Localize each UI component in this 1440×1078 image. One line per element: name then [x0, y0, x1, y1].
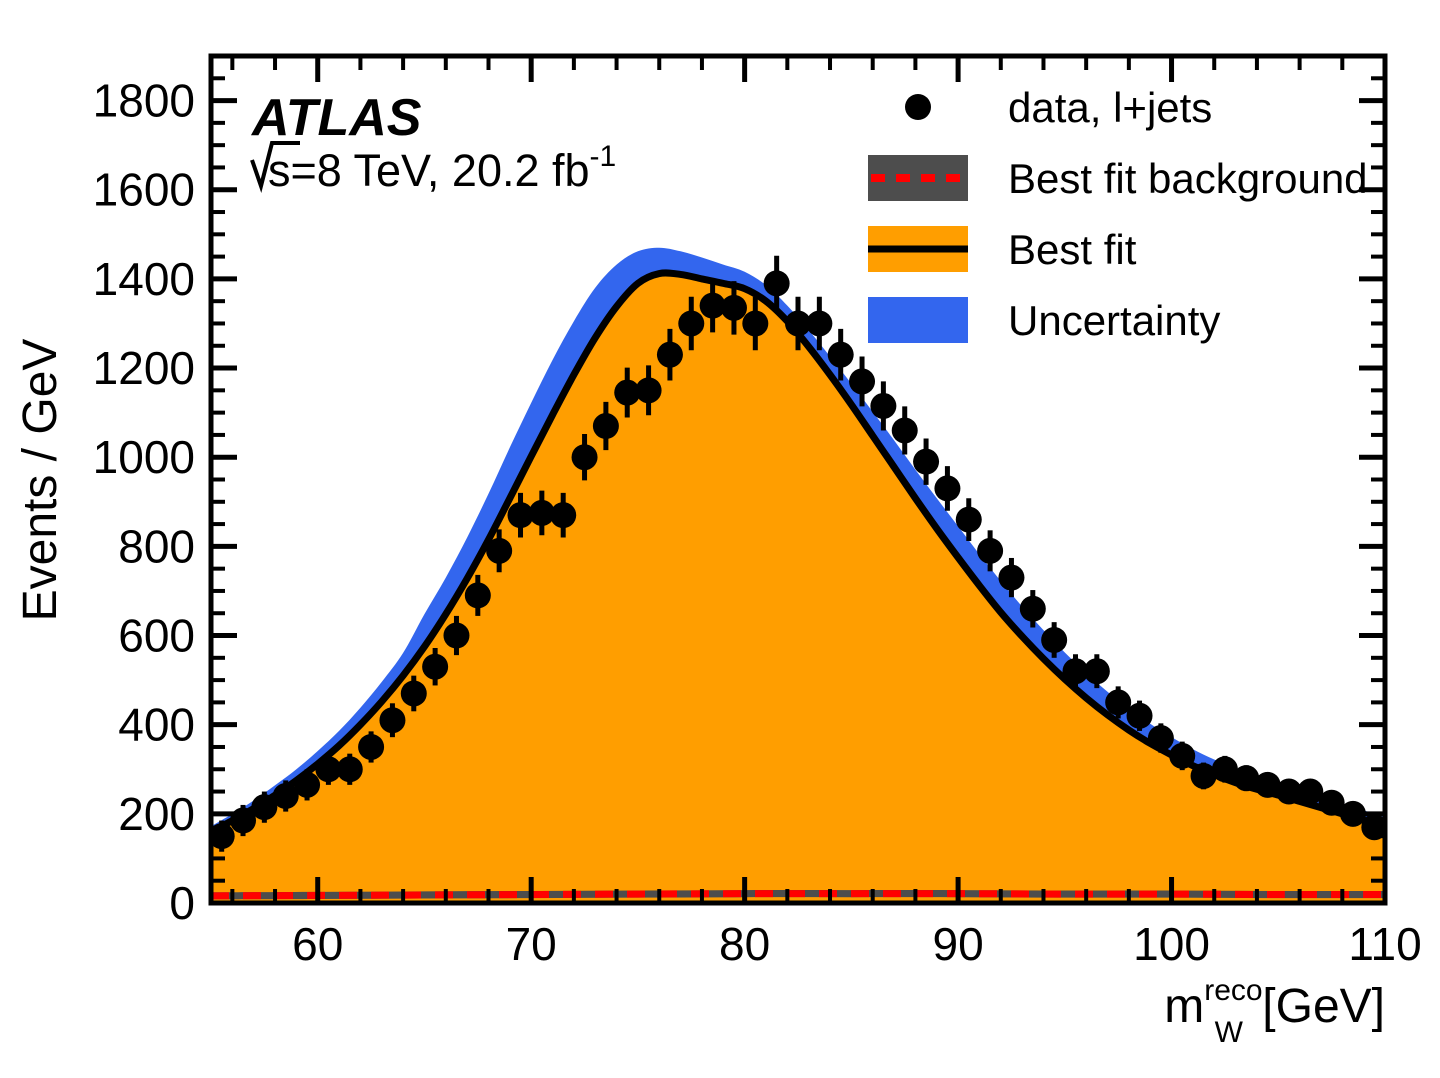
data-marker: [721, 295, 747, 321]
x-tick-label: 110: [1348, 918, 1421, 970]
x-tick-label: 70: [506, 918, 557, 970]
data-marker: [849, 368, 875, 394]
data-marker: [572, 444, 598, 470]
data-marker: [1148, 725, 1174, 751]
x-tick-label: 80: [719, 918, 770, 970]
data-marker: [678, 310, 704, 336]
y-tick-label: 600: [118, 610, 195, 662]
luminosity-exponent: -1: [590, 140, 617, 173]
data-marker: [486, 538, 512, 564]
data-marker: [593, 413, 619, 439]
atlas-mw-reco-chart: 60708090100110 0200400600800100012001400…: [0, 0, 1440, 1078]
chart-page: 60708090100110 0200400600800100012001400…: [0, 0, 1440, 1078]
data-marker: [956, 507, 982, 533]
y-axis-title-text: Events / GeV: [14, 339, 67, 622]
luminosity-rest: =8 TeV, 20.2 fb: [291, 145, 590, 196]
data-marker: [422, 654, 448, 680]
data-marker: [443, 623, 469, 649]
data-marker: [870, 393, 896, 419]
legend-label: data, l+jets: [1008, 84, 1212, 131]
data-marker: [934, 475, 960, 501]
legend-item[interactable]: Uncertainty: [868, 297, 1220, 344]
data-marker: [1041, 627, 1067, 653]
data-marker: [998, 565, 1024, 591]
luminosity-annotation: s=8 TeV, 20.2 fb-1: [252, 140, 616, 196]
data-marker: [977, 538, 1003, 564]
data-marker: [636, 377, 662, 403]
data-marker: [913, 449, 939, 475]
x-axis-title-unit: [GeV]: [1249, 980, 1385, 1033]
legend-marker-data-point: [905, 94, 931, 120]
data-marker: [550, 502, 576, 528]
y-tick-label: 1600: [93, 164, 195, 216]
legend-label: Uncertainty: [1008, 297, 1220, 344]
x-tick-label: 60: [292, 918, 343, 970]
legend-label: Best fit: [1008, 226, 1137, 273]
y-tick-label: 1800: [93, 75, 195, 127]
data-marker: [337, 756, 363, 782]
legend-label: Best fit background: [1008, 155, 1368, 202]
luminosity-s: s: [268, 145, 291, 196]
data-marker: [892, 417, 918, 443]
data-marker: [465, 582, 491, 608]
legend-swatch: [868, 297, 968, 343]
background-dashed-line: [211, 894, 1385, 896]
atlas-label-text: ATLAS: [250, 89, 422, 147]
y-tick-label: 1000: [93, 431, 195, 483]
y-tick-label: 1400: [93, 253, 195, 305]
y-tick-label: 200: [118, 788, 195, 840]
legend-item[interactable]: Best fit background: [868, 155, 1368, 202]
data-marker: [742, 310, 768, 336]
x-tick-label: 100: [1133, 918, 1210, 970]
data-marker: [1084, 658, 1110, 684]
data-marker: [1020, 596, 1046, 622]
data-marker: [358, 734, 384, 760]
x-axis-title-base: m: [1164, 980, 1204, 1033]
x-axis-title-sub: W: [1215, 1016, 1244, 1049]
x-tick-label: 90: [933, 918, 984, 970]
data-marker: [1169, 743, 1195, 769]
data-marker: [401, 680, 427, 706]
y-axis-title: Events / GeV: [14, 339, 67, 622]
y-tick-label: 800: [118, 520, 195, 572]
data-marker: [806, 310, 832, 336]
luminosity-text: s=8 TeV, 20.2 fb-1: [268, 140, 616, 196]
data-marker: [828, 342, 854, 368]
y-tick-label: 1200: [93, 342, 195, 394]
data-marker: [764, 270, 790, 296]
data-marker: [379, 707, 405, 733]
data-marker: [657, 342, 683, 368]
y-tick-label: 0: [169, 877, 195, 929]
data-marker: [294, 772, 320, 798]
y-tick-label: 400: [118, 699, 195, 751]
data-marker: [1127, 703, 1153, 729]
